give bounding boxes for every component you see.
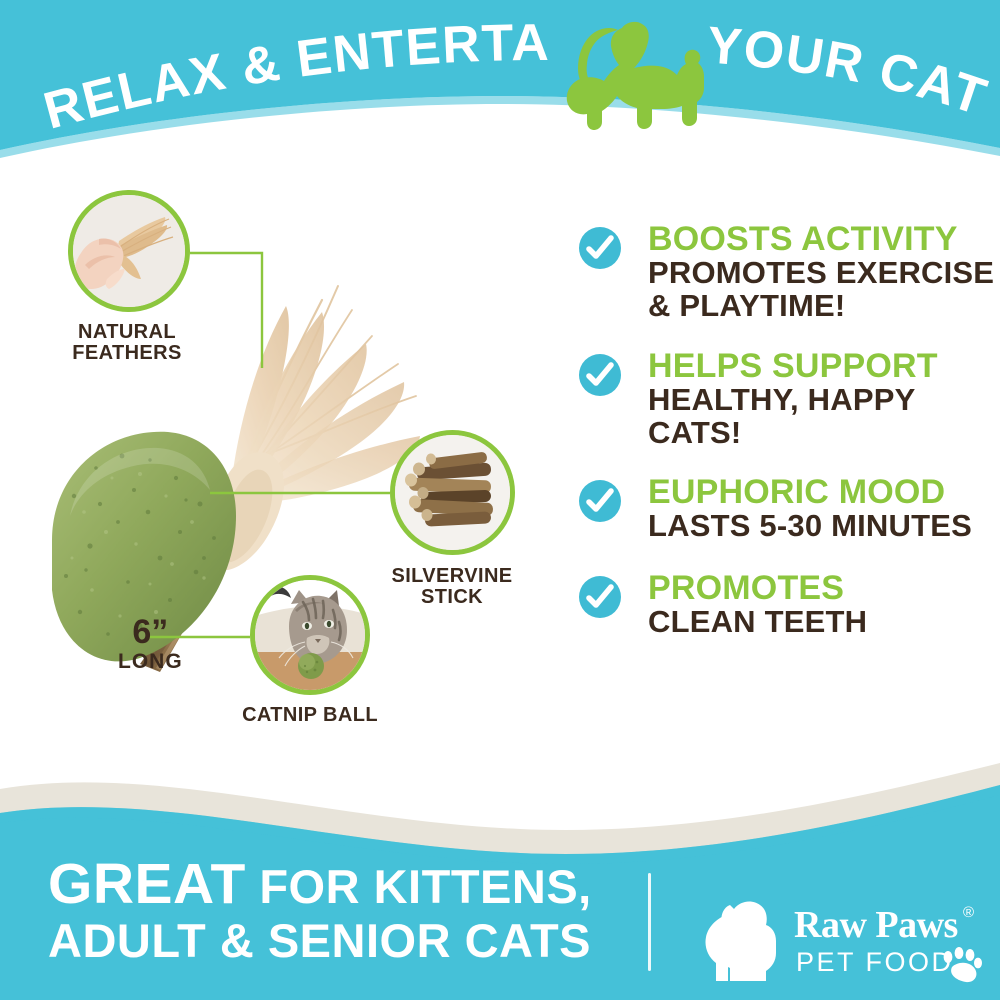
callout-natural-feathers[interactable]: NATURAL FEATHERS [68,190,190,312]
cat-chewing-catnip-ball-photo [250,575,370,695]
brand-name: Raw Paws [794,904,958,946]
header-title-group: RELAX & ENTERTAIN YOUR CAT [0,0,1000,175]
brand-logo[interactable]: Raw Paws ® PET FOOD [690,893,990,988]
footer-headline-lead: GREAT [48,852,246,916]
benefit-headline: EUPHORIC MOOD [648,475,988,509]
cat-silhouette-icon [530,18,720,138]
svg-text:RELAX & ENTERTAIN: RELAX & ENTERTAIN [0,0,551,141]
dog-and-cat-silhouette-icon: Raw Paws ® PET FOOD [690,893,990,988]
footer-divider [648,873,651,971]
header-title-left: RELAX & ENTERTAIN [0,0,551,141]
registered-mark: ® [963,904,974,921]
benefits-list: BOOSTS ACTIVITY PROMOTES EXERCISE & PLAY… [578,222,988,667]
footer-headline: GREAT FOR KITTENS, ADULT & SENIOR CATS [48,855,608,965]
dimension-label: 6” LONG [118,615,183,672]
footer-headline-line2: ADULT & SENIOR CATS [48,917,608,965]
benefit-item: EUPHORIC MOOD LASTS 5-30 MINUTES [578,475,988,545]
callout-catnip-ball[interactable]: CATNIP BALL [250,575,370,695]
brand-tagline: PET FOOD [796,947,954,977]
dimension-unit: LONG [118,651,183,672]
check-circle-icon [578,353,622,397]
hand-holding-feathers-photo [68,190,190,312]
benefit-body: HEALTHY, HAPPY CATS! [648,384,988,450]
product-illustration-area: 6” LONG [0,160,600,770]
callout-label-catnip-ball: CATNIP BALL [230,705,390,726]
callout-label-silvervine-stick: SILVERVINE STICK [377,566,527,608]
benefit-body: LASTS 5-30 MINUTES [648,510,988,543]
benefit-body: PROMOTES EXERCISE & PLAYTIME! [648,257,988,323]
header-banner: RELAX & ENTERTAIN YOUR CAT [0,0,1000,175]
infographic-canvas: RELAX & ENTERTAIN YOUR CAT [0,0,1000,1000]
leader-feathers [190,253,262,368]
check-circle-icon [578,226,622,270]
benefit-body: CLEAN TEETH [648,606,988,639]
benefit-headline: BOOSTS ACTIVITY [648,222,988,256]
dimension-value: 6” [118,615,183,649]
benefit-item: BOOSTS ACTIVITY PROMOTES EXERCISE & PLAY… [578,222,988,323]
footer-headline-rest: FOR KITTENS, [246,860,592,913]
benefit-item: HELPS SUPPORT HEALTHY, HAPPY CATS! [578,349,988,450]
check-circle-icon [578,479,622,523]
check-circle-icon [578,575,622,619]
benefit-headline: PROMOTES [648,571,988,605]
stacked-silvervine-sticks-photo [390,430,515,555]
svg-text:YOUR CAT: YOUR CAT [705,16,994,127]
benefit-item: PROMOTES CLEAN TEETH [578,571,988,641]
callout-silvervine-stick[interactable]: SILVERVINE STICK [390,430,515,555]
benefit-headline: HELPS SUPPORT [648,349,988,383]
callout-label-natural-feathers: NATURAL FEATHERS [66,322,188,364]
header-title-right: YOUR CAT [705,16,994,127]
